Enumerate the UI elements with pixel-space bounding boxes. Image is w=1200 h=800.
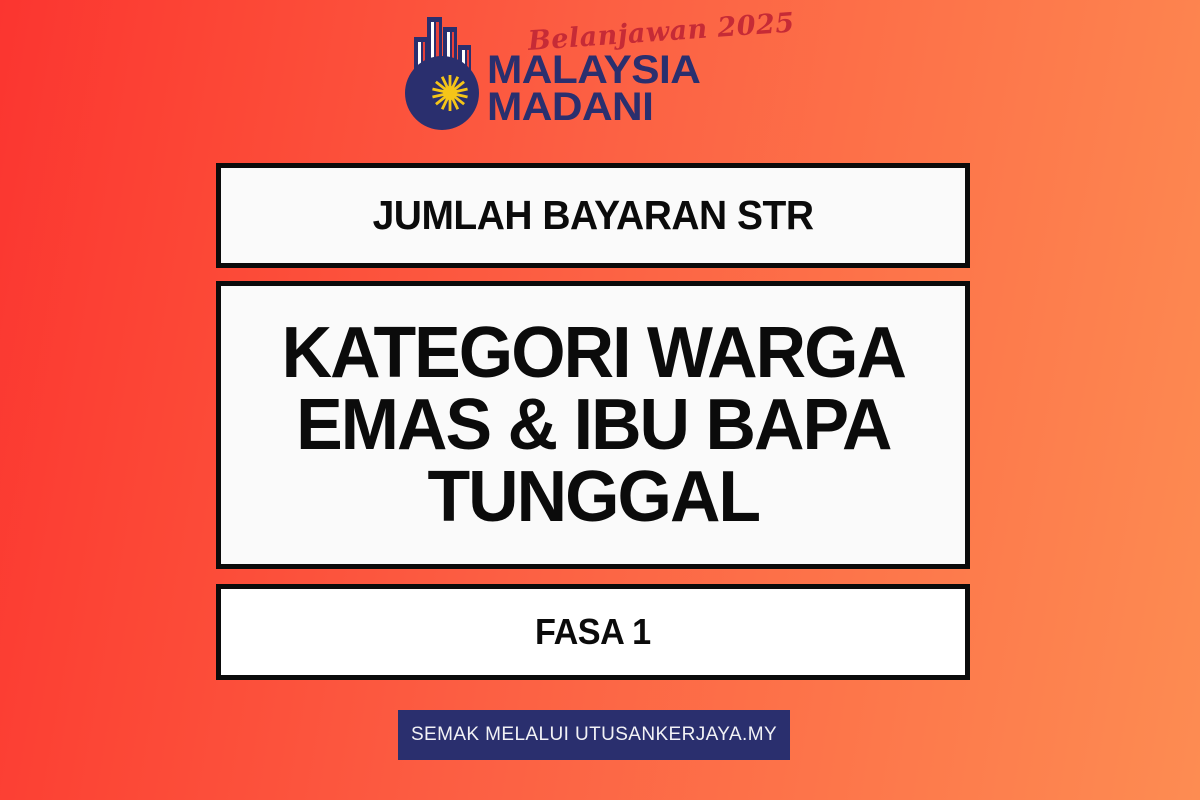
footer-source-banner[interactable]: SEMAK MELALUI UTUSANKERJAYA.MY <box>398 710 790 760</box>
category-line-3: TUNGGAL <box>281 461 904 533</box>
phase-text: FASA 1 <box>535 613 651 651</box>
payment-total-title-text: JUMLAH BAYARAN STR <box>373 194 814 237</box>
logo-name-malaysia-madani: MALAYSIA MADANI <box>487 52 815 127</box>
logo-wordmark: Belanjawan 2025 MALAYSIA MADANI <box>487 28 796 133</box>
logo-name-line-1: MALAYSIA <box>487 52 815 90</box>
card-category: KATEGORI WARGA EMAS & IBU BAPA TUNGGAL <box>216 281 970 569</box>
logo-lockup: Belanjawan 2025 MALAYSIA MADANI <box>403 15 796 133</box>
card-phase: FASA 1 <box>216 584 970 680</box>
category-line-2: EMAS & IBU BAPA <box>281 389 904 461</box>
malaysia-madani-emblem-icon <box>403 15 481 133</box>
malaysia-madani-logo: Belanjawan 2025 MALAYSIA MADANI <box>0 8 1200 140</box>
footer-source-text: SEMAK MELALUI UTUSANKERJAYA.MY <box>411 724 777 746</box>
card-payment-total-title: JUMLAH BAYARAN STR <box>216 163 970 268</box>
category-text: KATEGORI WARGA EMAS & IBU BAPA TUNGGAL <box>268 317 919 533</box>
poster-canvas: Belanjawan 2025 MALAYSIA MADANI JUMLAH B… <box>0 0 1200 800</box>
category-line-1: KATEGORI WARGA <box>281 317 904 389</box>
logo-name-line-2: MADANI <box>487 89 815 127</box>
